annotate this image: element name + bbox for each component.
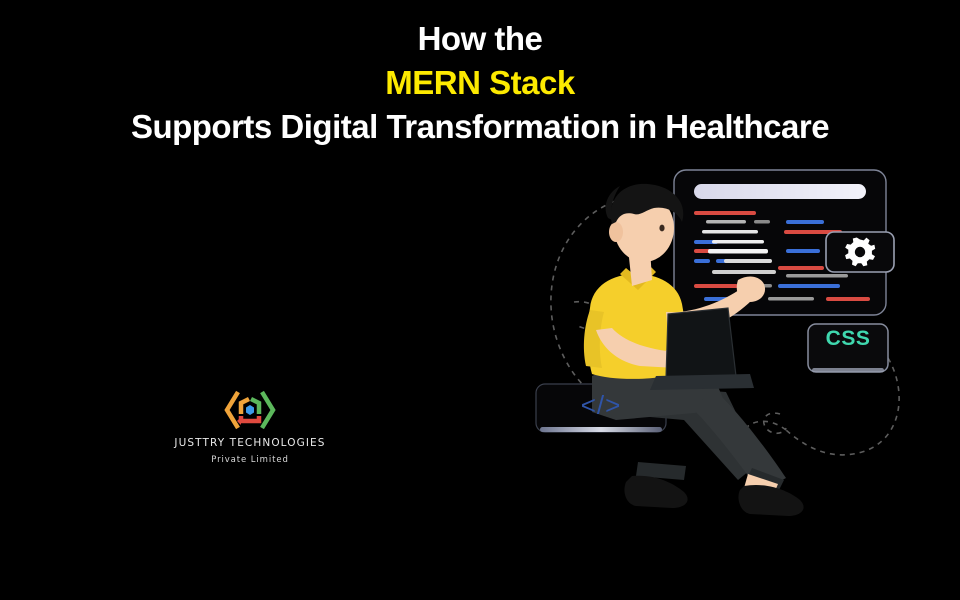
panel-header-bar xyxy=(694,184,866,199)
page-title: How the MERN Stack Supports Digital Tran… xyxy=(0,22,960,143)
person-shoe-back xyxy=(624,476,687,508)
illustration-svg xyxy=(516,162,936,522)
poster-canvas: How the MERN Stack Supports Digital Tran… xyxy=(0,0,960,600)
laptop-screen xyxy=(666,308,736,378)
css-badge xyxy=(808,324,888,373)
person-shoe-front xyxy=(738,485,803,516)
brand-company-name: JUSTTRY TECHNOLOGIES xyxy=(152,438,348,450)
headline-line-3: Supports Digital Transformation in Healt… xyxy=(0,110,960,143)
gear-badge xyxy=(826,232,894,272)
brand-logo: JUSTTRY TECHNOLOGIES Private Limited xyxy=(152,388,348,465)
developer-coding-illustration: CSS </> xyxy=(516,162,936,522)
justtry-hexagon-logo-icon xyxy=(218,388,282,432)
headline-line-2-highlight: MERN Stack xyxy=(0,66,960,99)
person-hand-pointing xyxy=(737,277,765,302)
person-ear xyxy=(609,222,623,242)
person-eye xyxy=(659,225,664,232)
brand-company-suffix: Private Limited xyxy=(152,455,348,465)
headline-line-1: How the xyxy=(0,22,960,55)
laptop-base xyxy=(650,374,754,390)
